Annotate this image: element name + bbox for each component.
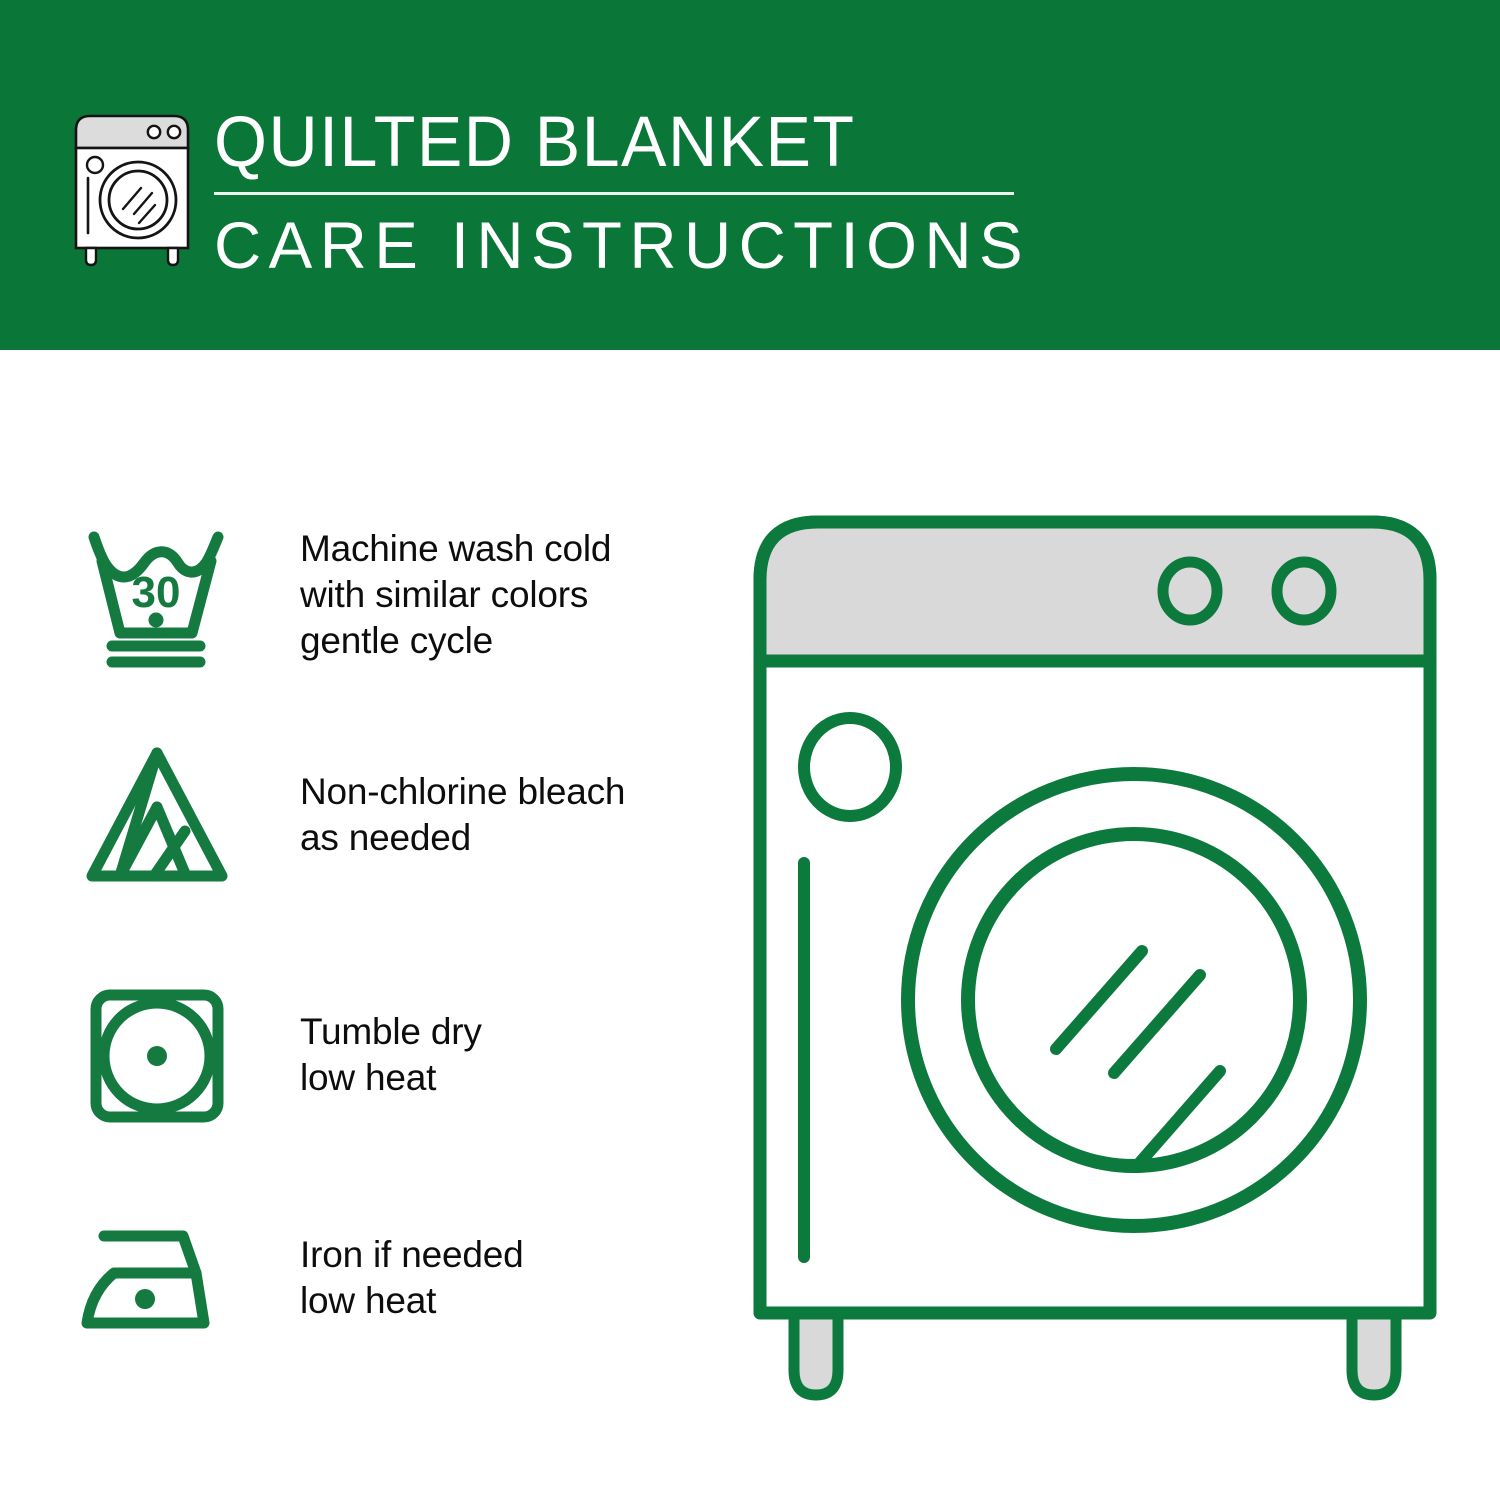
- header-band: QUILTED BLANKET CARE INSTRUCTIONS: [0, 0, 1500, 350]
- machine-knob-left: [1163, 562, 1217, 620]
- machine-drum-inner: [968, 834, 1300, 1166]
- care-row-bleach: Non-chlorine bleach as needed: [72, 735, 712, 895]
- washing-machine-icon: [62, 108, 202, 268]
- iron-low-heat-icon: [72, 1198, 242, 1358]
- page-subtitle: CARE INSTRUCTIONS: [214, 207, 1016, 283]
- care-row-machine-wash: 30 Machine wash cold with similar colors…: [72, 515, 712, 675]
- care-row-iron: Iron if needed low heat: [72, 1198, 712, 1358]
- tumble-dry-low-icon: [72, 975, 242, 1135]
- title-divider: [214, 192, 1014, 195]
- machine-detergent-port: [804, 718, 896, 816]
- care-label-bleach: Non-chlorine bleach as needed: [300, 769, 625, 861]
- care-label-machine-wash: Machine wash cold with similar colors ge…: [300, 526, 611, 664]
- care-label-iron: Iron if needed low heat: [300, 1232, 523, 1324]
- washing-machine-illustration: [742, 495, 1452, 1425]
- header-text-block: QUILTED BLANKET CARE INSTRUCTIONS: [214, 104, 1024, 283]
- non-chlorine-bleach-triangle-icon: [72, 735, 242, 895]
- care-instruction-list: 30 Machine wash cold with similar colors…: [0, 350, 740, 1500]
- care-label-tumble-dry: Tumble dry low heat: [300, 1009, 482, 1101]
- care-instructions-page: QUILTED BLANKET CARE INSTRUCTIONS: [0, 0, 1500, 1500]
- page-title: QUILTED BLANKET: [214, 104, 992, 182]
- care-row-tumble-dry: Tumble dry low heat: [72, 975, 712, 1135]
- wash-tub-30-gentle-icon: 30: [72, 515, 242, 675]
- machine-knob-right: [1277, 562, 1331, 620]
- wash-temperature-label: 30: [132, 568, 181, 617]
